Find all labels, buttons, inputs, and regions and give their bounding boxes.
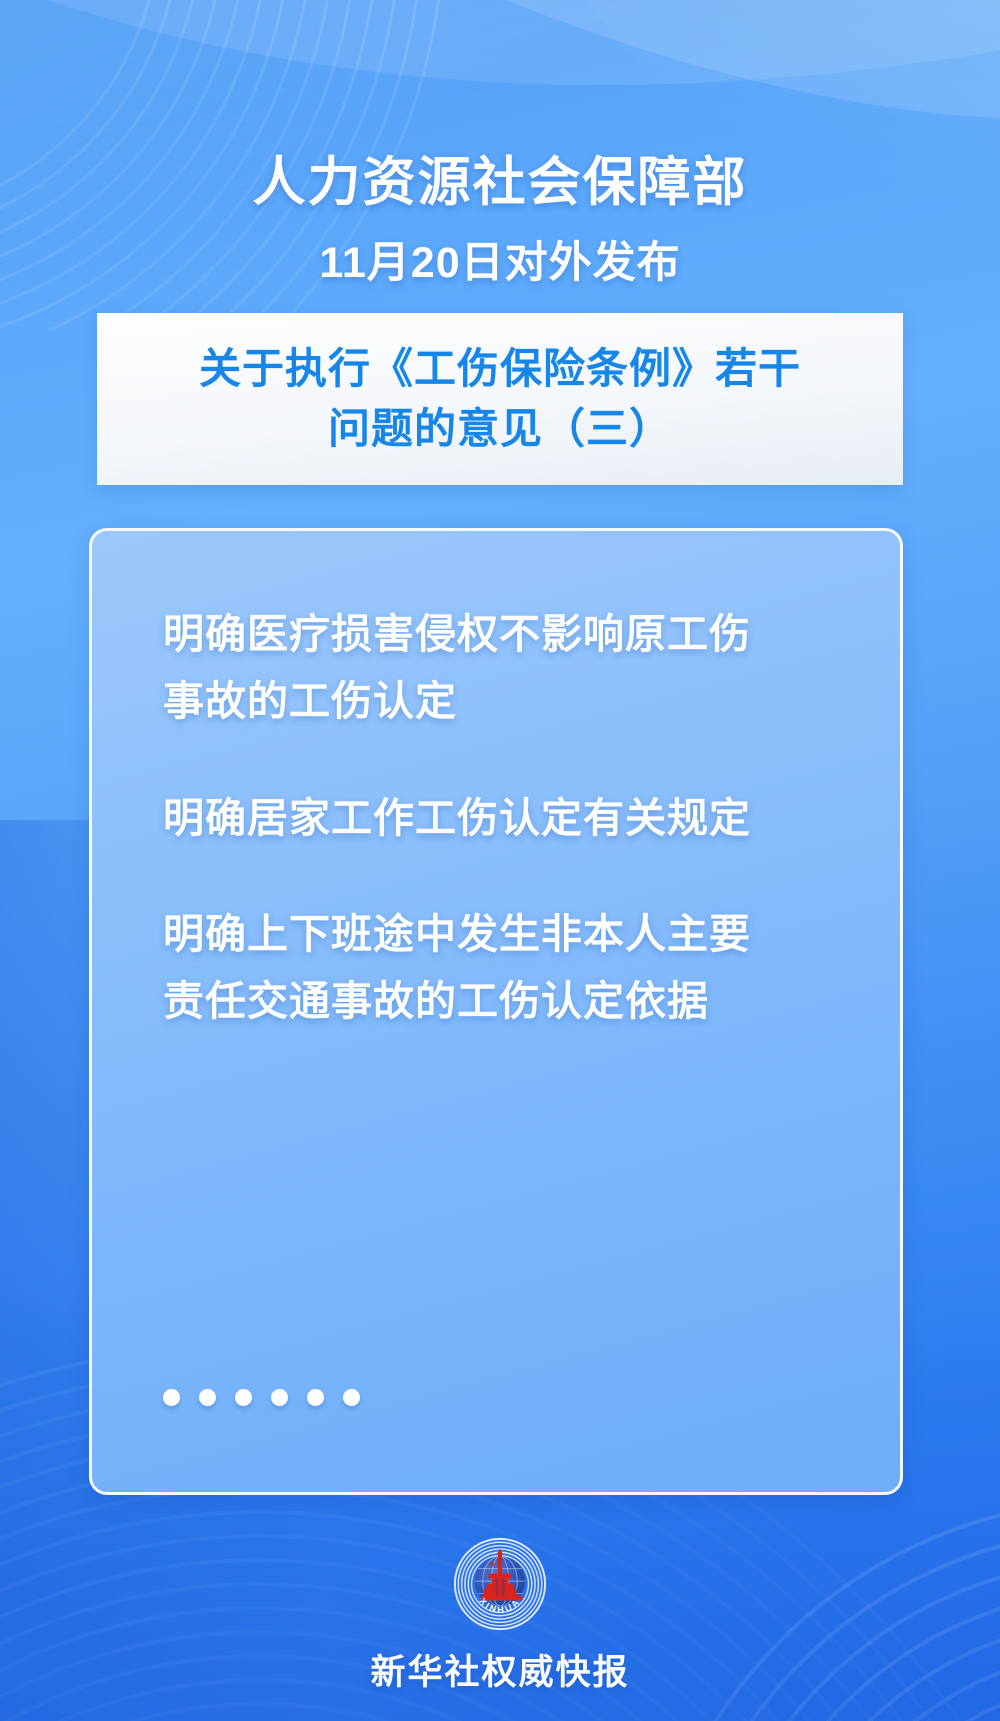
ellipsis-dot <box>235 1389 252 1406</box>
release-date-subtitle: 11月20日对外发布 <box>0 228 1000 290</box>
xinhua-logo: XINHUA <box>452 1536 548 1632</box>
document-title-line-2: 问题的意见（三） <box>328 399 672 459</box>
ellipsis-dot <box>163 1389 180 1406</box>
list-item: 明确医疗损害侵权不影响原工伤事故的工伤认定 <box>163 601 763 735</box>
ellipsis-dot <box>271 1389 288 1406</box>
highlights-panel: 明确医疗损害侵权不影响原工伤事故的工伤认定 明确居家工作工伤认定有关规定 明确上… <box>89 528 903 1495</box>
ellipsis-indicator <box>163 1389 360 1406</box>
document-title-line-1: 关于执行《工伤保险条例》若干 <box>199 339 801 399</box>
list-item: 明确居家工作工伤认定有关规定 <box>163 785 763 852</box>
page-title: 人力资源社会保障部 <box>0 140 1000 216</box>
highlights-list: 明确医疗损害侵权不影响原工伤事故的工伤认定 明确居家工作工伤认定有关规定 明确上… <box>163 601 854 1085</box>
document-title-card: 关于执行《工伤保险条例》若干 问题的意见（三） <box>97 313 903 485</box>
footer-caption: 新华社权威快报 <box>0 1644 1000 1695</box>
poster-canvas: 人力资源社会保障部 11月20日对外发布 关于执行《工伤保险条例》若干 问题的意… <box>0 0 1000 1721</box>
ellipsis-dot <box>199 1389 216 1406</box>
ellipsis-dot <box>307 1389 324 1406</box>
xinhua-logo-icon: XINHUA <box>452 1536 548 1632</box>
ellipsis-dot <box>343 1389 360 1406</box>
list-item: 明确上下班途中发生非本人主要责任交通事故的工伤认定依据 <box>163 901 763 1035</box>
